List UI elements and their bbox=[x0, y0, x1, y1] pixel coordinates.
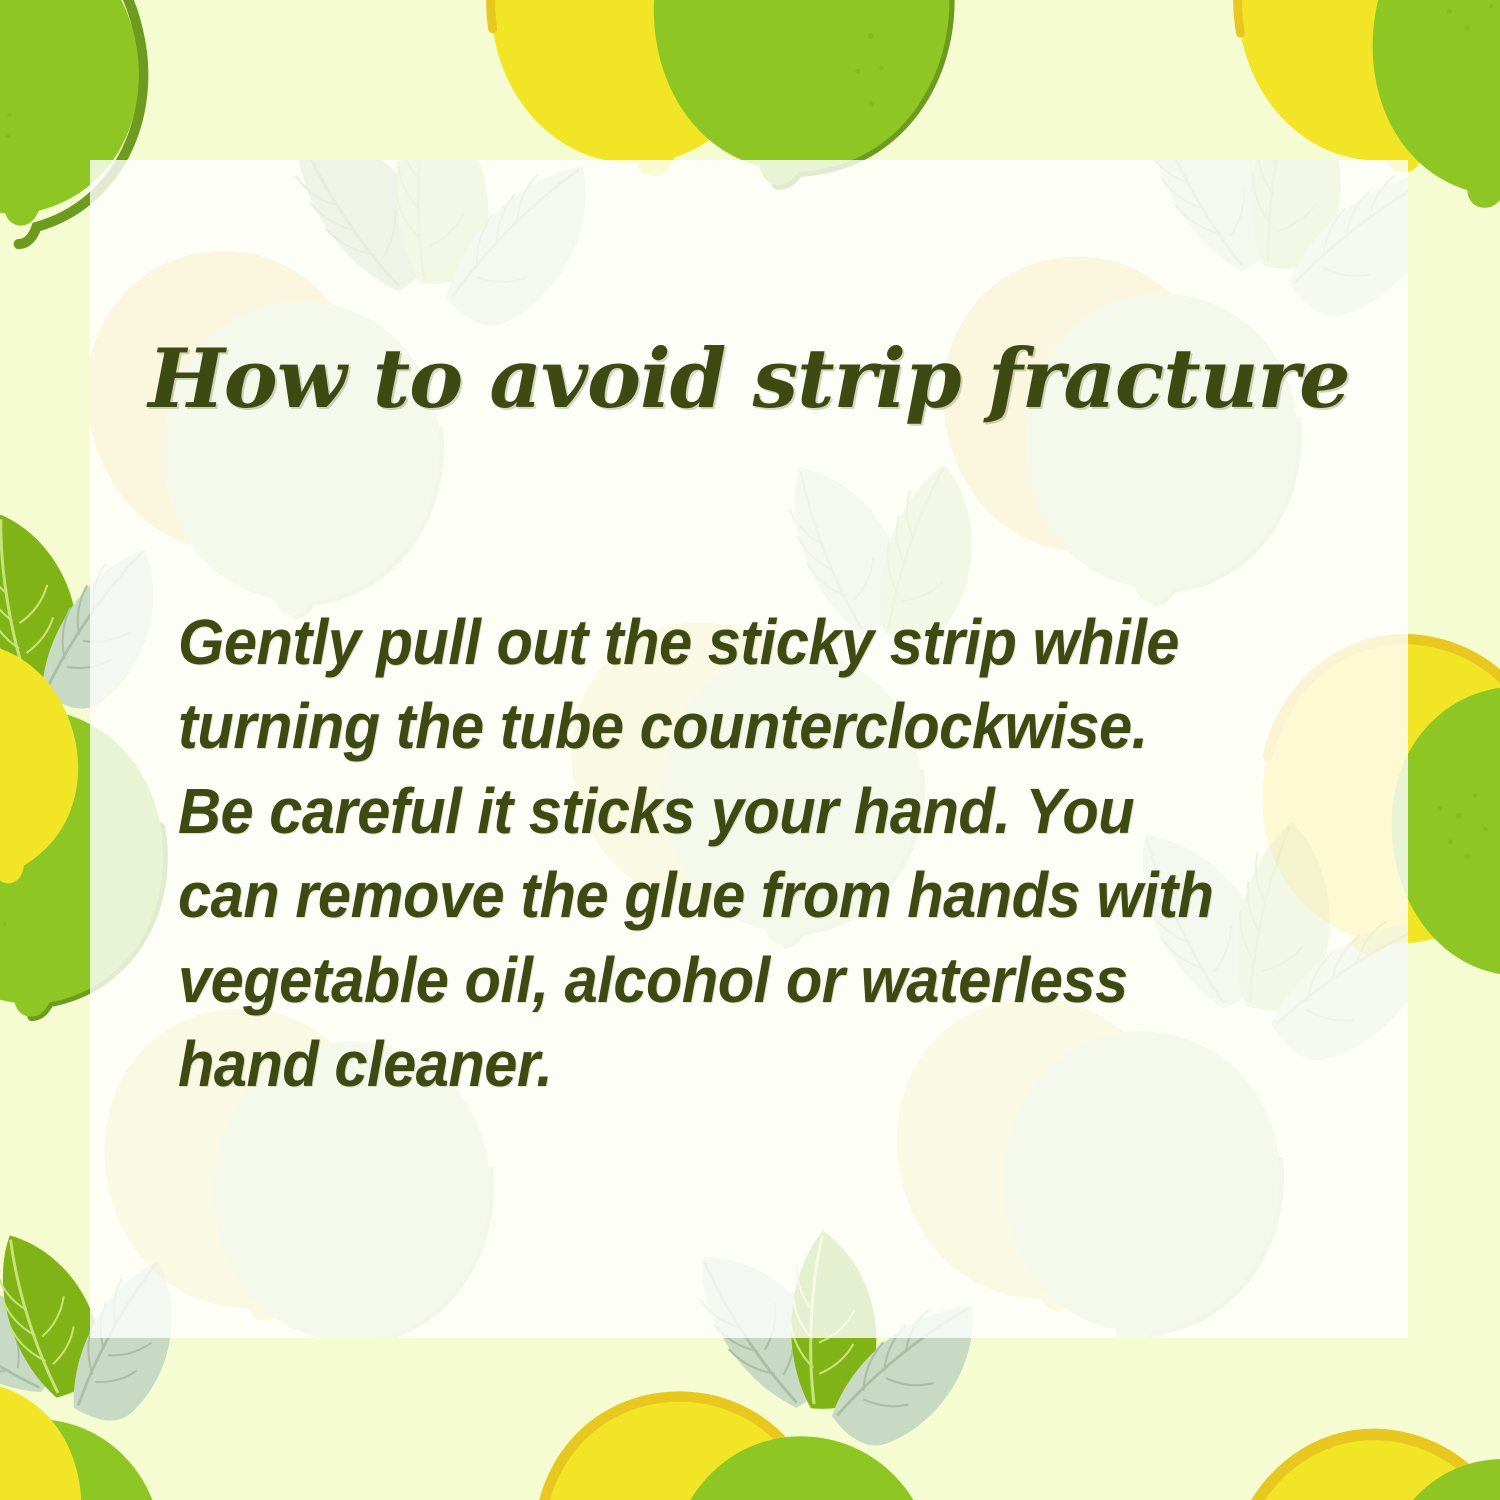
body-line: turning the tube counterclockwise. bbox=[178, 684, 1294, 768]
body-line: Be careful it sticks your hand. You bbox=[178, 769, 1294, 853]
lemon-bottom-center bbox=[515, 1374, 852, 1500]
body-line: hand cleaner. bbox=[178, 1022, 1294, 1106]
lime-bottom-right bbox=[1370, 1450, 1500, 1500]
body-line: vegetable oil, alcohol or waterless bbox=[178, 938, 1294, 1022]
poster-canvas: How to avoid strip fracture Gently pull … bbox=[0, 0, 1500, 1500]
body-line: Gently pull out the sticky strip while bbox=[178, 600, 1294, 684]
lemon-bottom-right bbox=[1195, 1405, 1500, 1500]
page-title: How to avoid strip fracture bbox=[90, 332, 1408, 427]
body-line: can remove the glue from hands with bbox=[178, 853, 1294, 937]
lemon-bottom-left-behind bbox=[0, 1356, 113, 1500]
body-copy: Gently pull out the sticky strip while t… bbox=[178, 600, 1294, 1107]
text-block: How to avoid strip fracture Gently pull … bbox=[90, 160, 1408, 1338]
